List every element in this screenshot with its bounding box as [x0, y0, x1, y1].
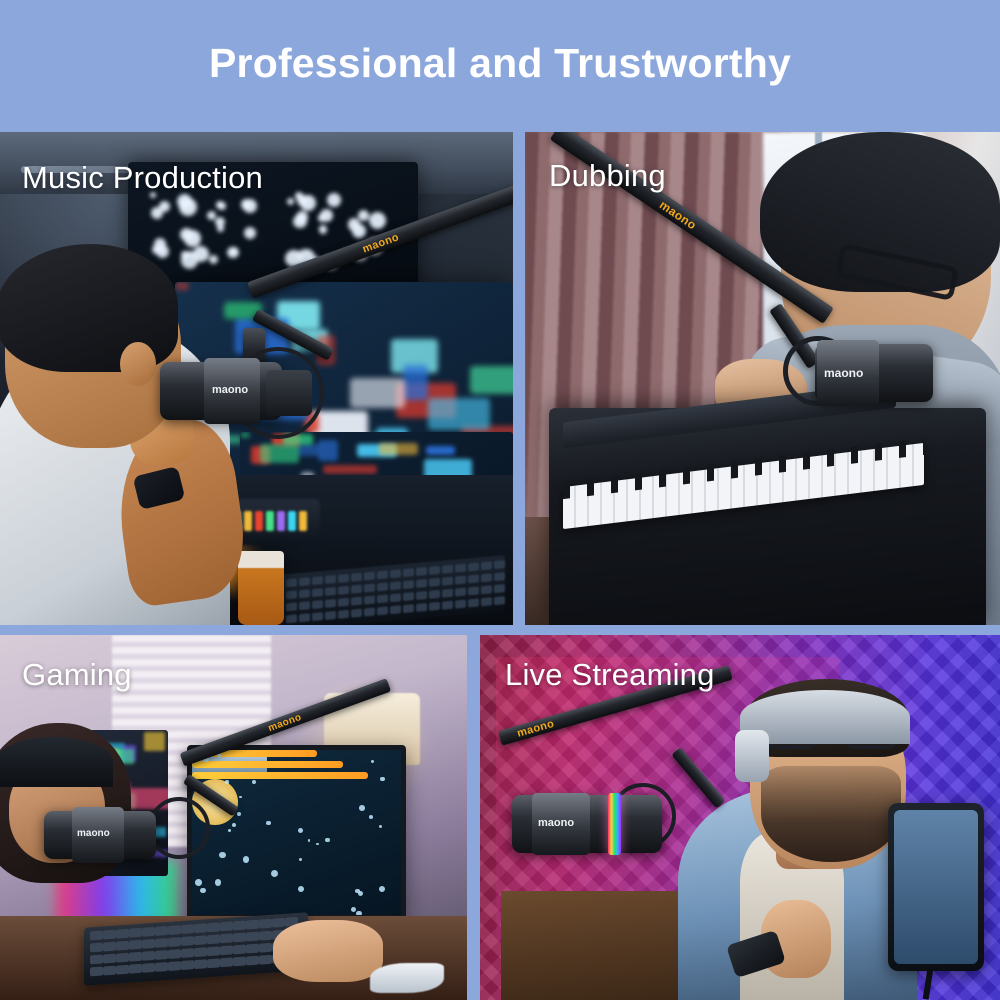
waveform-display: [150, 192, 400, 272]
use-case-panel-dubbing[interactable]: maono maono Dubbing: [525, 132, 1000, 625]
microphone-maono-logo: maono: [212, 384, 248, 396]
use-case-panel-gaming[interactable]: maono maono Gaming: [0, 635, 467, 1000]
smartphone-screen: [894, 810, 978, 964]
microphone-logo-ring: maono: [204, 358, 260, 424]
model-plane: [370, 963, 444, 993]
smartphone: [888, 803, 984, 971]
panel-label-gaming: Gaming: [22, 657, 132, 693]
gaming-headset: [0, 737, 113, 787]
microphone-rear-panel: [266, 370, 312, 416]
use-case-panel-live-streaming[interactable]: maono maono Live Streaming: [480, 635, 1000, 1000]
use-case-panel-music-production[interactable]: maono maono Music Production: [0, 132, 513, 625]
scene-dubbing: maono maono: [525, 132, 1000, 625]
microphone-logo-ring: maono: [817, 340, 879, 406]
gaming-monitor: [187, 745, 406, 920]
panel-label-music-production: Music Production: [22, 160, 263, 196]
person-beard: [761, 766, 901, 862]
microphone-logo-ring: maono: [532, 793, 590, 855]
headphones-earcup: [735, 730, 769, 782]
scene-music-production: maono maono: [0, 132, 513, 625]
microphone-rgb-ring: [608, 793, 621, 855]
person-hand: [273, 920, 383, 982]
microphone-logo-ring: maono: [72, 807, 124, 863]
panel-label-dubbing: Dubbing: [549, 158, 666, 194]
shock-mount: [148, 797, 210, 859]
coffee-cup: [238, 551, 284, 625]
person-ear: [120, 342, 156, 386]
microphone-maono-logo: maono: [538, 817, 574, 829]
microphone-maono-logo: maono: [77, 828, 110, 839]
page-title: Professional and Trustworthy: [209, 43, 791, 90]
page-header: Professional and Trustworthy: [0, 0, 1000, 132]
microphone-maono-logo: maono: [824, 366, 863, 380]
panel-label-live-streaming: Live Streaming: [505, 657, 715, 693]
